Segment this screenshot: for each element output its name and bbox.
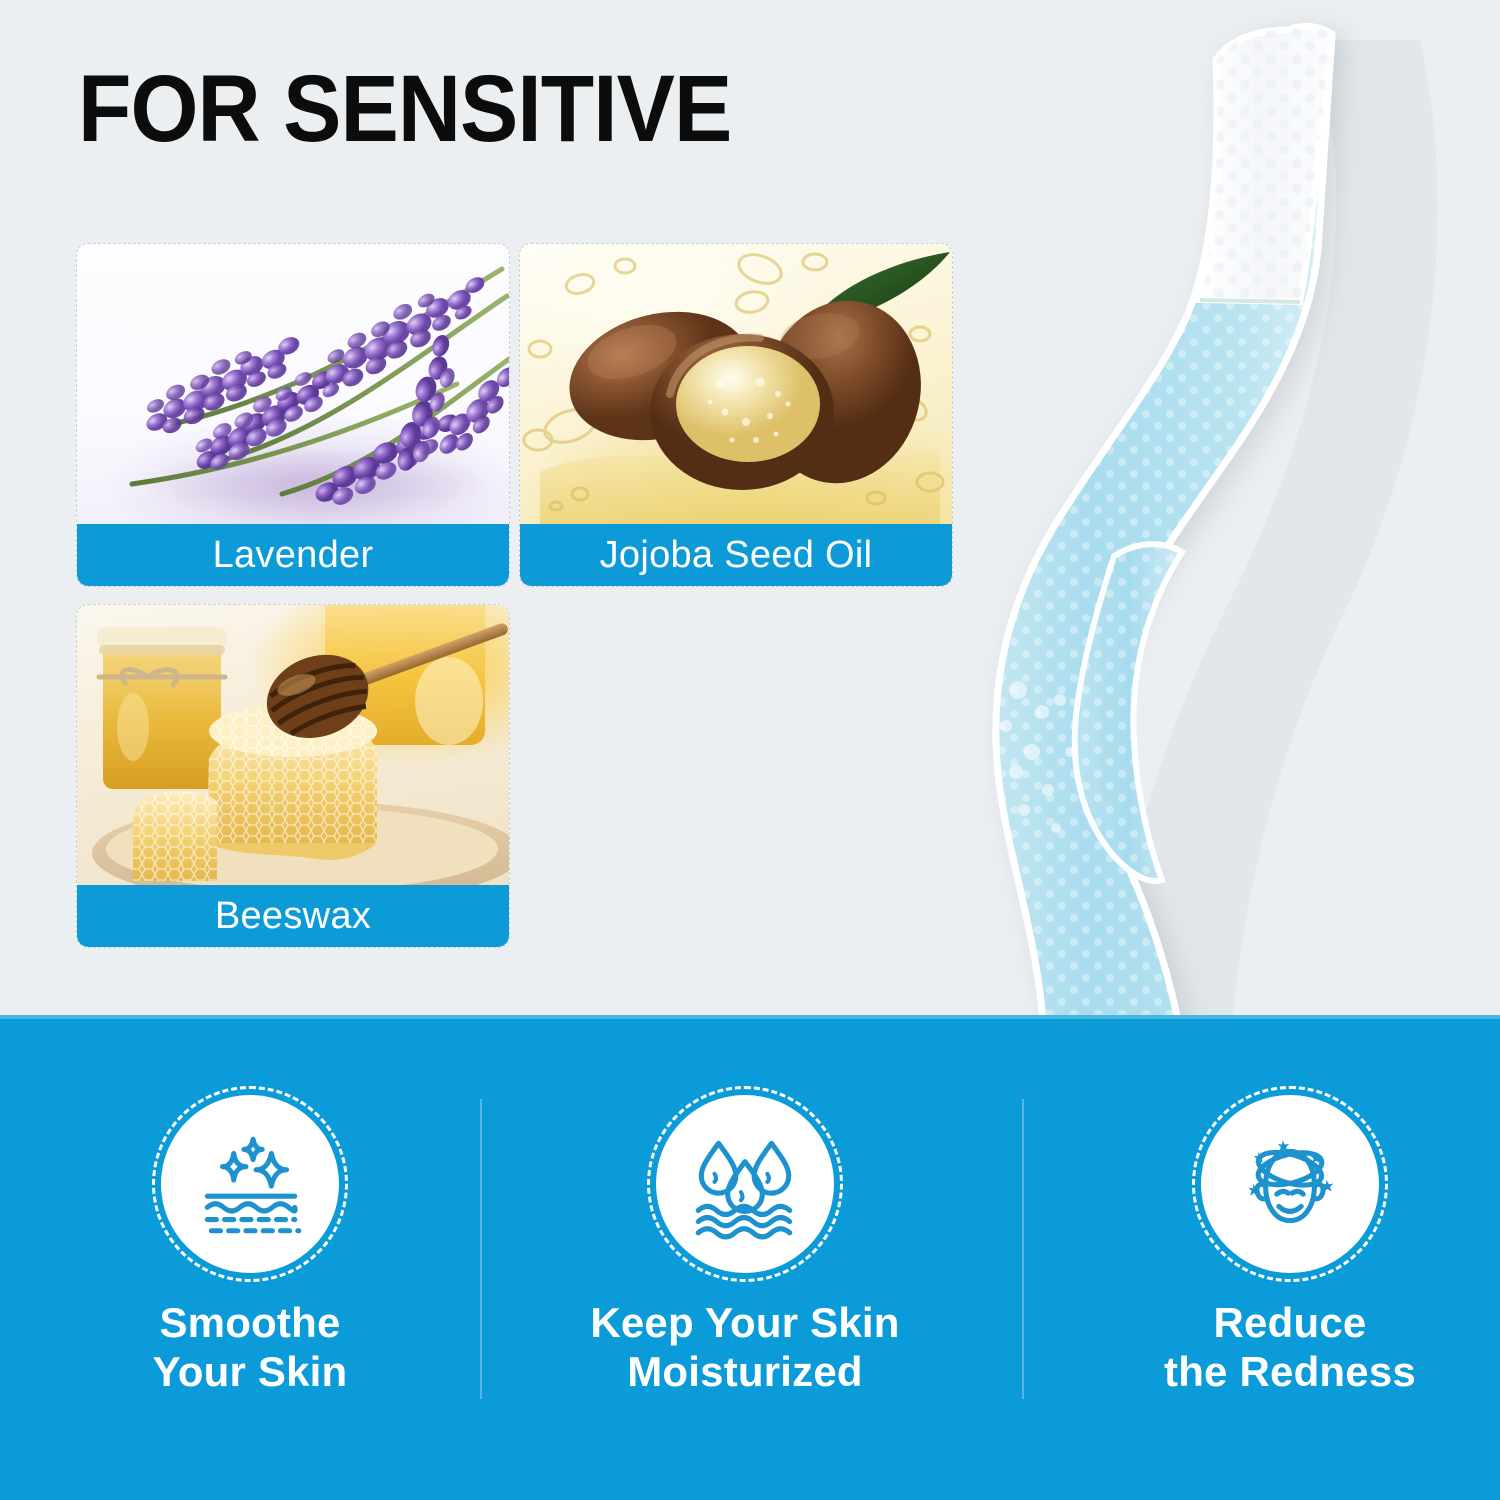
page-title: FOR SENSITIVE xyxy=(78,62,731,157)
benefit-label-1: Keep Your Skin Moisturized xyxy=(545,1299,945,1396)
jojoba-seeds-icon xyxy=(520,244,952,524)
ingredient-card-beeswax: Beeswax xyxy=(76,604,510,948)
benefit-keep-your-skin-moisturized: Keep Your Skin Moisturized xyxy=(545,1095,945,1396)
benefit-smoothe-your-skin: Smoothe Your Skin xyxy=(50,1095,450,1396)
benefits-banner: Smoothe Your Skin xyxy=(0,1015,1500,1500)
jojoba-photo xyxy=(520,244,952,524)
benefit-divider-1 xyxy=(480,1099,482,1399)
ingredient-label-jojoba: Jojoba Seed Oil xyxy=(520,524,952,586)
ingredient-card-lavender: Lavender xyxy=(76,243,510,587)
beeswax-photo xyxy=(77,605,509,885)
calm-face-icon xyxy=(1201,1095,1379,1273)
banner-top-rule xyxy=(0,1015,1500,1019)
lavender-sprigs-icon xyxy=(77,244,509,524)
ingredient-label-lavender: Lavender xyxy=(77,524,509,586)
ingredient-label-beeswax: Beeswax xyxy=(77,885,509,947)
sparkle-skin-layers-icon xyxy=(161,1095,339,1273)
product-infographic-page: FOR SENSITIVE xyxy=(0,0,1500,1500)
benefit-reduce-the-redness: Reduce the Redness xyxy=(1090,1095,1490,1396)
ingredient-card-jojoba: Jojoba Seed Oil xyxy=(519,243,953,587)
benefit-label-2: Reduce the Redness xyxy=(1090,1299,1490,1396)
lavender-photo xyxy=(77,244,509,524)
benefit-label-0: Smoothe Your Skin xyxy=(50,1299,450,1396)
honey-honeycomb-icon xyxy=(77,605,509,885)
water-droplets-waves-icon xyxy=(656,1095,834,1273)
benefit-divider-2 xyxy=(1022,1099,1024,1399)
